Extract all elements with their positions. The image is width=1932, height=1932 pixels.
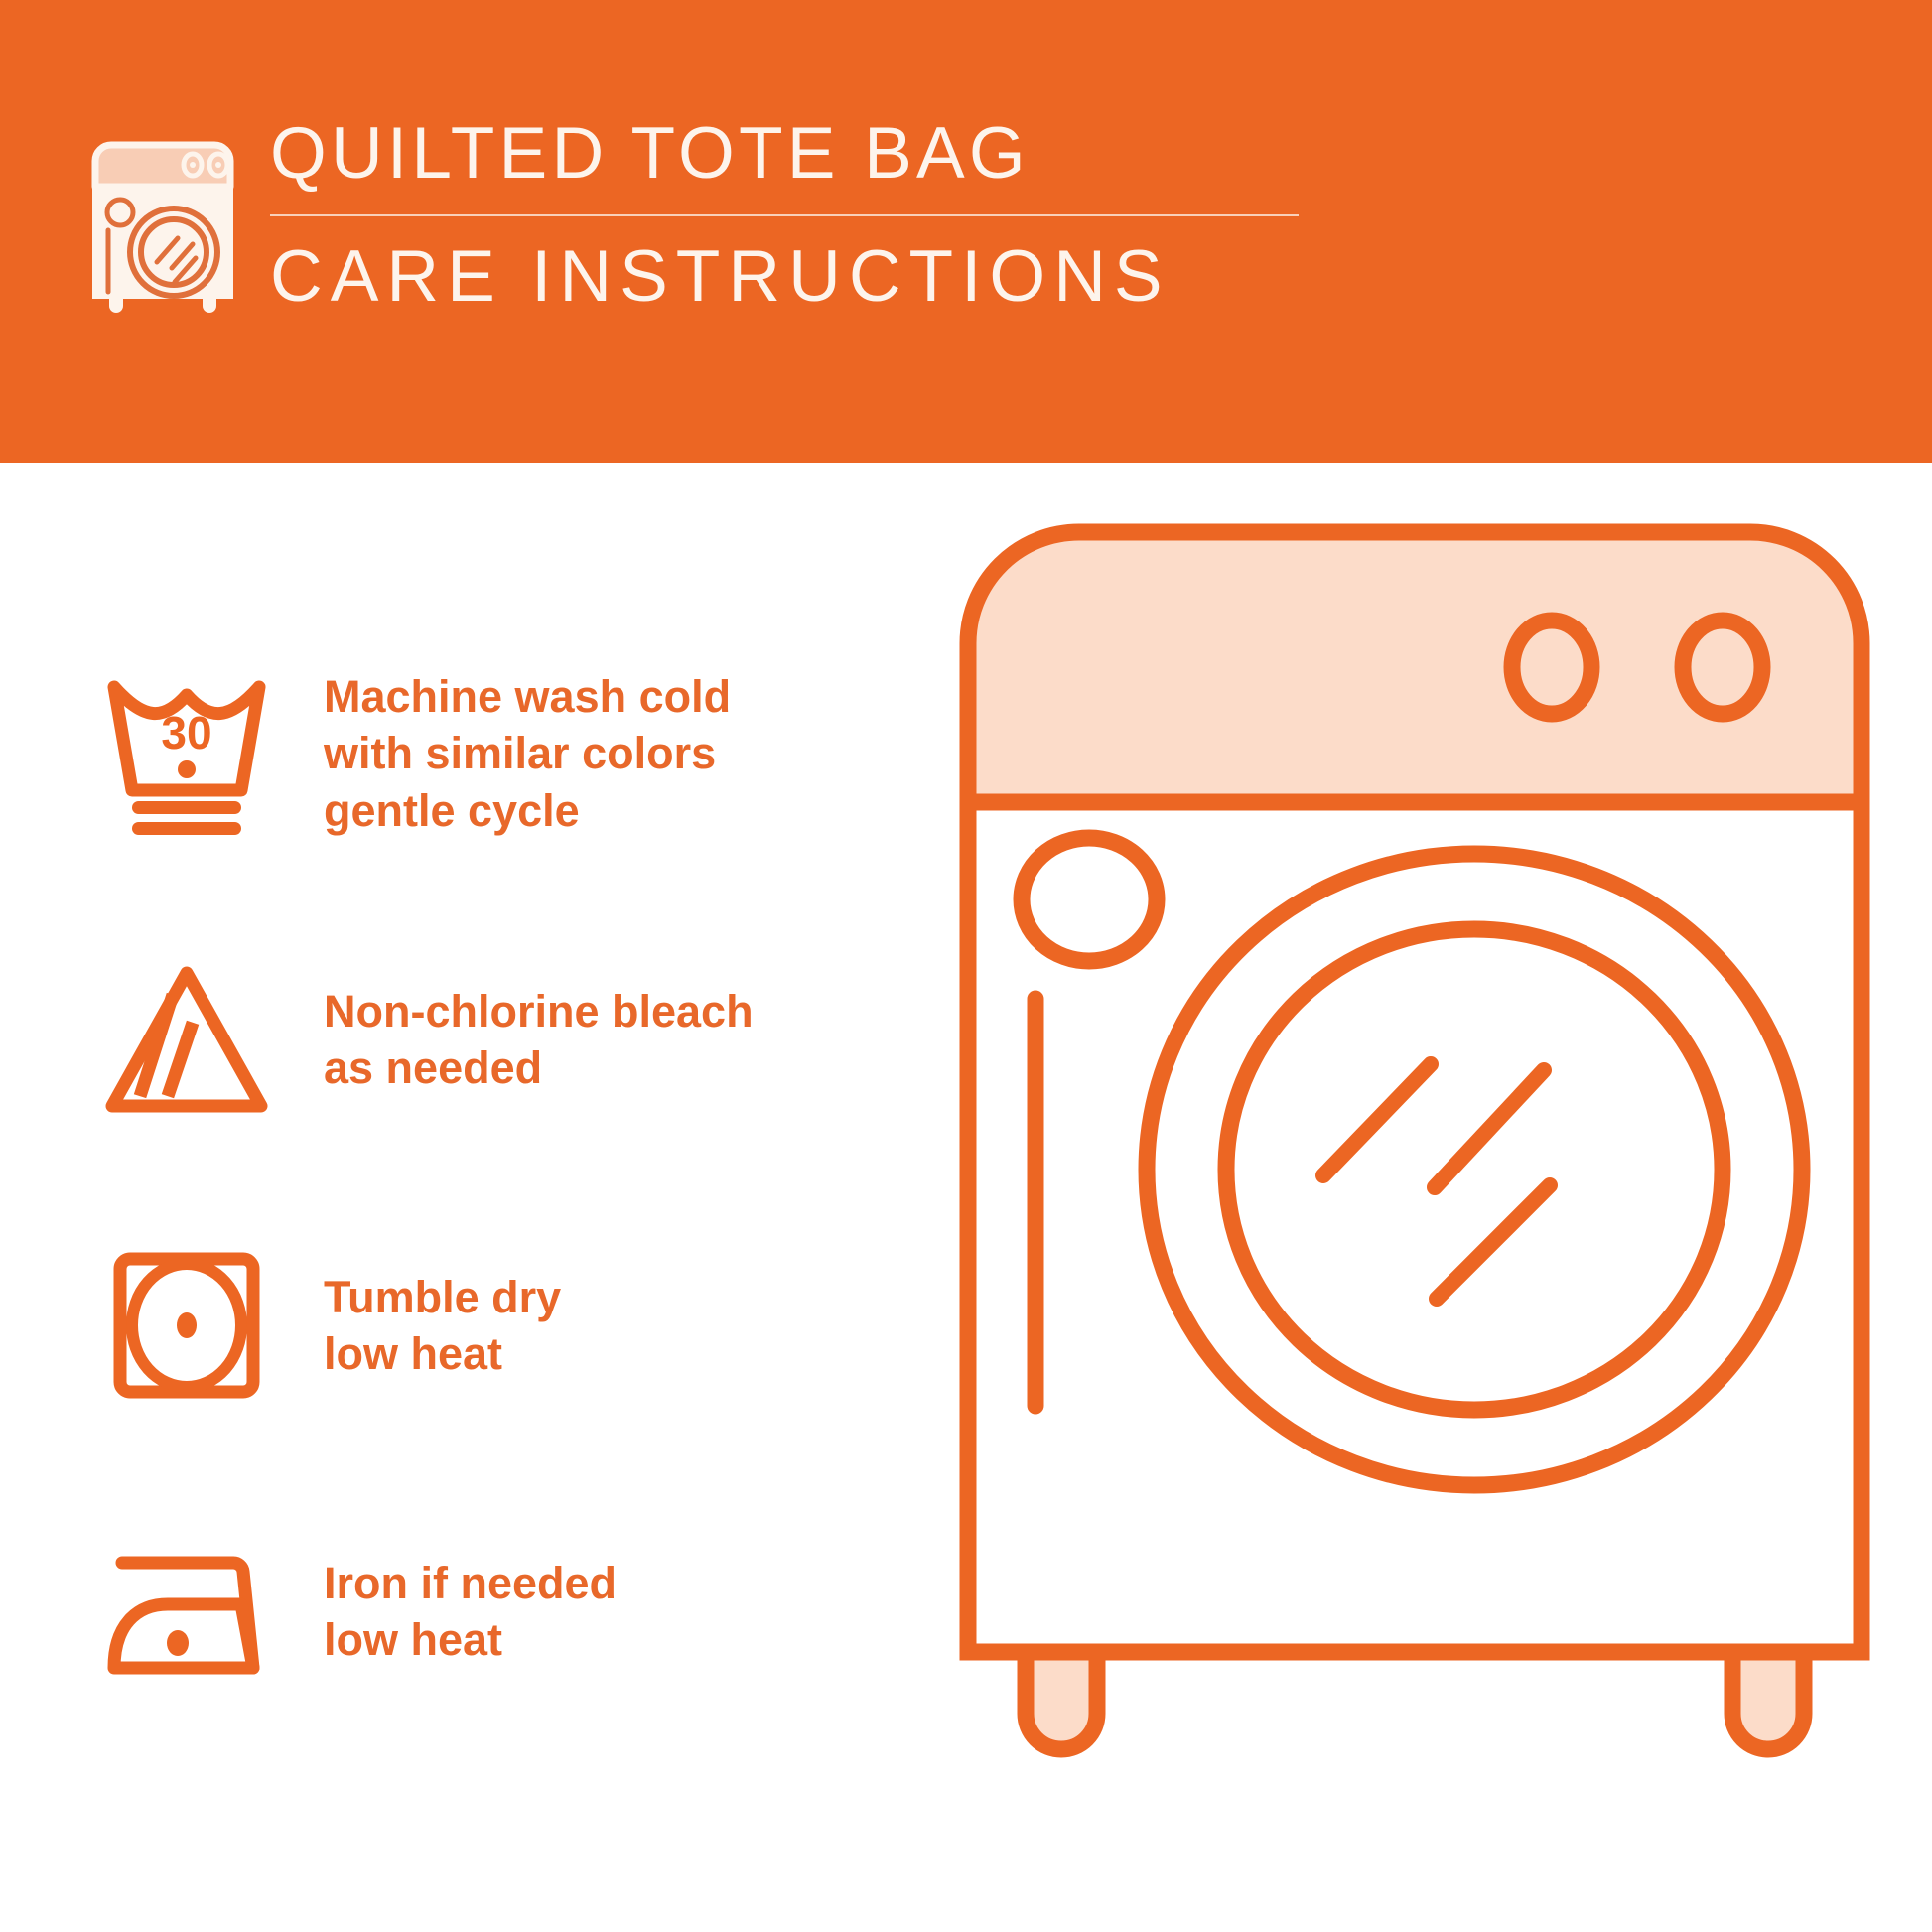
tumble-dry-low-icon — [81, 1241, 292, 1410]
care-item-bleach: Non-chlorine bleach as needed — [81, 932, 935, 1147]
page-subtitle: CARE INSTRUCTIONS — [270, 240, 1299, 313]
header-content: QUILTED TOTE BAG CARE INSTRUCTIONS — [77, 127, 1299, 323]
care-item-label: Non-chlorine bleach as needed — [292, 983, 754, 1096]
care-item-machine-wash: 30 Machine wash cold with similar colors… — [81, 646, 935, 861]
care-item-iron: Iron if needed low heat — [81, 1504, 935, 1719]
care-item-tumble-dry: Tumble dry low heat — [81, 1218, 935, 1433]
washing-machine-illustration — [938, 502, 1891, 1783]
page-title: QUILTED TOTE BAG — [270, 117, 1299, 190]
washer-foot-left — [1026, 1652, 1097, 1749]
non-chlorine-bleach-triangle-icon — [81, 955, 292, 1124]
wash-temperature-label: 30 — [161, 707, 211, 759]
control-knob-right — [1683, 621, 1762, 714]
wash-tub-30-icon: 30 — [81, 669, 292, 838]
header-title-group: QUILTED TOTE BAG CARE INSTRUCTIONS — [270, 117, 1299, 313]
control-knob-left — [1512, 621, 1591, 714]
washing-machine-icon — [77, 127, 248, 316]
care-instructions-list: 30 Machine wash cold with similar colors… — [81, 646, 935, 1790]
care-item-label: Machine wash cold with similar colors ge… — [292, 668, 731, 838]
iron-low-heat-icon — [81, 1527, 292, 1696]
header-banner: QUILTED TOTE BAG CARE INSTRUCTIONS — [0, 0, 1932, 463]
title-divider — [270, 214, 1299, 216]
washer-foot-right — [1732, 1652, 1804, 1749]
care-item-label: Tumble dry low heat — [292, 1269, 561, 1382]
care-item-label: Iron if needed low heat — [292, 1555, 617, 1668]
main-content: 30 Machine wash cold with similar colors… — [0, 463, 1932, 1932]
